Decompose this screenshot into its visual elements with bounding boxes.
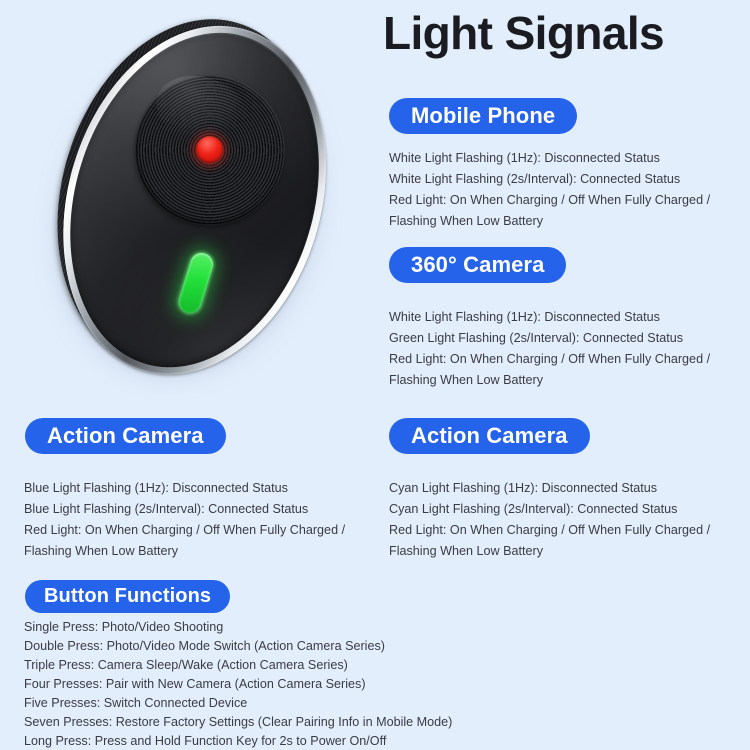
list-item: Four Presses: Pair with New Camera (Acti… bbox=[24, 675, 452, 694]
list-action-camera-blue: Blue Light Flashing (1Hz): Disconnected … bbox=[24, 478, 345, 562]
list-item: Cyan Light Flashing (2s/Interval): Conne… bbox=[389, 499, 710, 520]
badge-360-camera[interactable]: 360° Camera bbox=[389, 247, 566, 283]
list-item: Long Press: Press and Hold Function Key … bbox=[24, 732, 452, 750]
list-item: Cyan Light Flashing (1Hz): Disconnected … bbox=[389, 478, 710, 499]
remote-control-device bbox=[12, 0, 376, 417]
list-item: Triple Press: Camera Sleep/Wake (Action … bbox=[24, 656, 452, 675]
badge-button-functions[interactable]: Button Functions bbox=[25, 580, 230, 613]
list-360-camera: White Light Flashing (1Hz): Disconnected… bbox=[389, 307, 710, 391]
device-front-face bbox=[31, 2, 359, 399]
list-item: Single Press: Photo/Video Shooting bbox=[24, 618, 452, 637]
badge-mobile-phone[interactable]: Mobile Phone bbox=[389, 98, 577, 134]
list-button-functions: Single Press: Photo/Video Shooting Doubl… bbox=[24, 618, 452, 750]
list-item: White Light Flashing (2s/Interval): Conn… bbox=[389, 169, 710, 190]
list-item: Seven Presses: Restore Factory Settings … bbox=[24, 713, 452, 732]
list-item: Flashing When Low Battery bbox=[24, 541, 345, 562]
product-image bbox=[0, 0, 380, 410]
light-signals-infographic: Light Signals Mobile Phone White Light F… bbox=[0, 0, 750, 750]
list-item: Blue Light Flashing (2s/Interval): Conne… bbox=[24, 499, 345, 520]
list-item: White Light Flashing (1Hz): Disconnected… bbox=[389, 148, 710, 169]
list-item: Red Light: On When Charging / Off When F… bbox=[389, 190, 710, 211]
badge-action-camera-left[interactable]: Action Camera bbox=[25, 418, 226, 454]
list-item: Flashing When Low Battery bbox=[389, 541, 710, 562]
list-mobile-phone: White Light Flashing (1Hz): Disconnected… bbox=[389, 148, 710, 232]
list-item: Red Light: On When Charging / Off When F… bbox=[24, 520, 345, 541]
list-item: Double Press: Photo/Video Mode Switch (A… bbox=[24, 637, 452, 656]
page-title: Light Signals bbox=[383, 6, 664, 60]
list-item: Blue Light Flashing (1Hz): Disconnected … bbox=[24, 478, 345, 499]
red-charging-indicator-icon bbox=[193, 133, 227, 167]
list-action-camera-cyan: Cyan Light Flashing (1Hz): Disconnected … bbox=[389, 478, 710, 562]
list-item: Flashing When Low Battery bbox=[389, 370, 710, 391]
list-item: Green Light Flashing (2s/Interval): Conn… bbox=[389, 328, 710, 349]
green-status-indicator-icon bbox=[176, 250, 216, 316]
list-item: Red Light: On When Charging / Off When F… bbox=[389, 349, 710, 370]
list-item: Five Presses: Switch Connected Device bbox=[24, 694, 452, 713]
list-item: White Light Flashing (1Hz): Disconnected… bbox=[389, 307, 710, 328]
list-item: Flashing When Low Battery bbox=[389, 211, 710, 232]
badge-action-camera-right[interactable]: Action Camera bbox=[389, 418, 590, 454]
circular-ridged-function-button-icon[interactable] bbox=[116, 57, 303, 244]
list-item: Red Light: On When Charging / Off When F… bbox=[389, 520, 710, 541]
